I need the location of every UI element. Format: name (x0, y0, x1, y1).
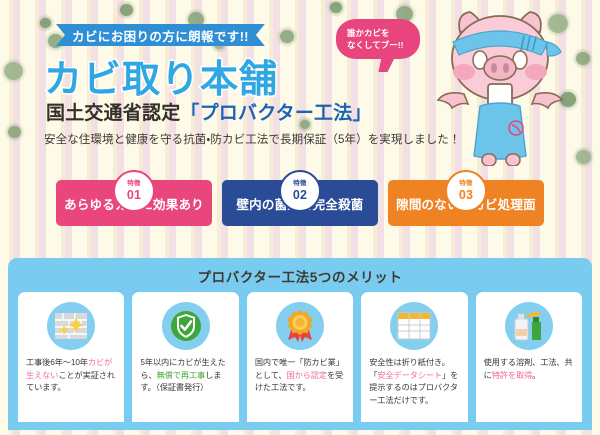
merit-card-text: 国内で唯一「防カビ業」として、国から認定を受けた工法です。 (255, 357, 345, 395)
shield-check-icon (162, 302, 210, 350)
feature-badge-02-circle: 特徴 02 (279, 170, 321, 212)
feature-badge-02[interactable]: 特徴 02 壁内の菌糸を完全殺菌 (222, 180, 378, 226)
merit-text-highlight: 国から認定 (287, 371, 327, 380)
merits-section: プロバクター工法5つのメリット (8, 258, 592, 430)
merit-card-text: 工事後6年〜10年カビが生えないことが実証されています。 (26, 357, 116, 395)
merit-card-list: 工事後6年〜10年カビが生えないことが実証されています。 5年以内にカビが生えた… (18, 292, 582, 422)
merit-card[interactable]: 5年以内にカビが生えたら、無償で再工事します。（保証書発行） (132, 292, 238, 422)
announcement-ribbon: カビにお困りの方に朗報です!! (56, 24, 265, 46)
award-medal-icon (276, 302, 324, 350)
feature-badge-03-circle: 特徴 03 (445, 170, 487, 212)
merit-text-highlight: 無償で再工事 (157, 371, 206, 380)
spray-bottle-icon (505, 302, 553, 350)
feature-badge-03-label: 特徴 (459, 181, 472, 188)
feature-badges: 特徴 01 あらゆるカビに効果あり 特徴 02 壁内の菌糸を完全殺菌 特徴 03… (0, 168, 600, 230)
ribbon-label: カビにお困りの方に朗報です!! (72, 26, 249, 45)
subtitle-prefix: 国土交通省認定 (46, 103, 180, 124)
landing-page: カビにお困りの方に朗報です!! カビ取り本舗 国土交通省認定「プロバクター工法」… (0, 0, 600, 435)
subtitle: 国土交通省認定「プロバクター工法」 (46, 98, 372, 125)
merit-card[interactable]: 使用する溶剤、工法、共に特許を取得。 (476, 292, 582, 422)
merit-card[interactable]: 安全性は折り紙付き。「安全データシート」を提示するのはプロバクター工法だけです。 (361, 292, 467, 422)
feature-badge-01-number: 01 (127, 189, 141, 202)
merits-title: プロバクター工法5つのメリット (8, 266, 592, 286)
subtitle-highlight: 「プロバクター工法」 (180, 103, 371, 124)
feature-badge-02-number: 02 (293, 189, 307, 202)
merit-text-part: 。 (532, 371, 540, 380)
speech-bubble-line-1: 誰かカビを (347, 27, 390, 39)
speech-bubble: 誰かカビを なくしてブー!! (336, 19, 420, 59)
pig-mascot-icon (420, 6, 580, 166)
feature-badge-02-label: 特徴 (293, 181, 306, 188)
merit-card-text: 使用する溶剤、工法、共に特許を取得。 (484, 357, 574, 382)
merit-text-part: 工事後6年〜10年 (26, 358, 88, 367)
page-title: カビ取り本舗 (44, 48, 278, 103)
feature-badge-03[interactable]: 特徴 03 隙間のない防カビ処理面 (388, 180, 544, 226)
merit-text-highlight: 特許を取得 (492, 371, 532, 380)
merit-card[interactable]: 国内で唯一「防カビ業」として、国から認定を受けた工法です。 (247, 292, 353, 422)
brick-wall-sparkle-icon (47, 302, 95, 350)
merit-text-highlight: 安全データシート (377, 371, 442, 380)
feature-badge-01-label: 特徴 (127, 181, 140, 188)
feature-badge-03-number: 03 (459, 189, 473, 202)
data-sheet-icon (390, 302, 438, 350)
merit-card-text: 5年以内にカビが生えたら、無償で再工事します。（保証書発行） (140, 357, 230, 395)
merit-card-text: 安全性は折り紙付き。「安全データシート」を提示するのはプロバクター工法だけです。 (369, 357, 459, 408)
feature-badge-01[interactable]: 特徴 01 あらゆるカビに効果あり (56, 180, 212, 226)
feature-badge-01-circle: 特徴 01 (113, 170, 155, 212)
speech-bubble-line-2: なくしてブー!! (347, 39, 403, 51)
merit-card[interactable]: 工事後6年〜10年カビが生えないことが実証されています。 (18, 292, 124, 422)
lead-text: 安全な住環境と健康を守る抗菌・防カビ工法で長期保証（5年）を実現しました！ (44, 131, 461, 147)
